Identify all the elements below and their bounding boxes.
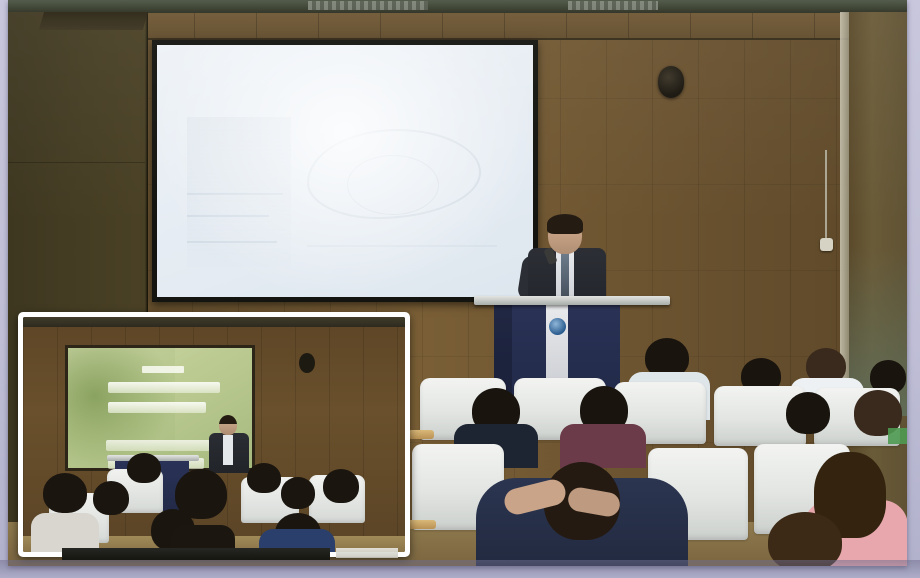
podium-emblem-icon xyxy=(549,318,566,335)
background-object xyxy=(888,428,907,444)
audience-head xyxy=(768,512,842,566)
inset-slide-bullet xyxy=(108,402,206,413)
inset-wall-speaker-icon xyxy=(299,353,315,373)
inset-audience-head xyxy=(323,469,359,503)
seat-armrest xyxy=(408,430,434,439)
wall-speaker-icon xyxy=(658,66,684,98)
inset-audience-torso xyxy=(31,513,99,552)
inset-photo xyxy=(23,317,405,552)
inset-audience-head xyxy=(127,453,161,483)
inset-presenter-shirt xyxy=(223,435,233,465)
inset-photo-frame xyxy=(18,312,410,557)
inset-audience-head xyxy=(93,481,129,515)
audience-head xyxy=(786,392,830,434)
screenshot-root: Auditorium lecture: a presenter speaking… xyxy=(0,0,920,578)
left-wall-seam xyxy=(8,162,145,163)
projection-screen xyxy=(152,40,538,302)
inset-audience-head xyxy=(281,477,315,509)
presenter-tie xyxy=(561,252,569,296)
foreground-light-strip xyxy=(336,548,398,558)
ceiling-vent-icon xyxy=(308,1,428,10)
presenter-hair xyxy=(547,214,583,234)
pull-cord-icon xyxy=(825,150,827,242)
inset-ceiling xyxy=(23,317,405,327)
inset-audience-head xyxy=(247,463,281,493)
inset-slide-bullet xyxy=(106,440,210,451)
audience-torso xyxy=(560,424,646,468)
podium-desktop xyxy=(474,296,670,305)
seat-armrest xyxy=(406,520,436,529)
inset-audience-head xyxy=(43,473,87,513)
mat-bottom-shadow xyxy=(0,560,920,578)
screen-glare xyxy=(157,45,533,297)
inset-slide-title xyxy=(142,366,184,373)
ceiling-vent-icon xyxy=(568,1,658,10)
left-wall-bevel xyxy=(39,12,148,30)
projection-screen-surface xyxy=(157,45,533,297)
inset-slide-bullet xyxy=(108,382,220,393)
pull-cord-knob-icon xyxy=(820,238,833,251)
foreground-dark-strip xyxy=(62,548,330,560)
inset-presenter-head xyxy=(219,415,237,435)
